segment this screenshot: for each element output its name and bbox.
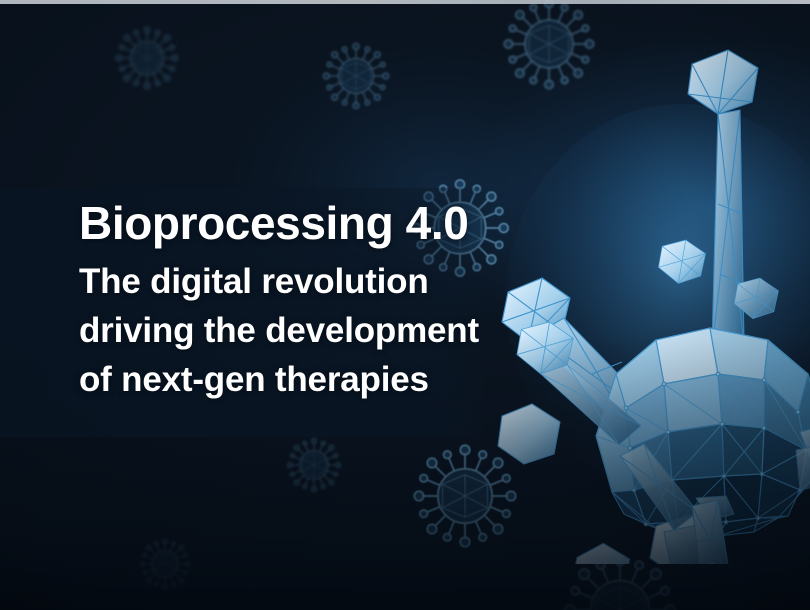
hero-text-block: Bioprocessing 4.0 The digital revolution… bbox=[79, 196, 509, 404]
hero-banner: Bioprocessing 4.0 The digital revolution… bbox=[0, 0, 810, 610]
hero-subtitle: The digital revolution driving the devel… bbox=[79, 257, 509, 404]
hero-subtitle-line-2: driving the development bbox=[79, 306, 509, 355]
hero-subtitle-line-3: of next-gen therapies bbox=[79, 355, 509, 404]
hero-subtitle-line-1: The digital revolution bbox=[79, 257, 509, 306]
top-edge-strip bbox=[0, 0, 810, 4]
page-title: Bioprocessing 4.0 bbox=[79, 196, 509, 250]
